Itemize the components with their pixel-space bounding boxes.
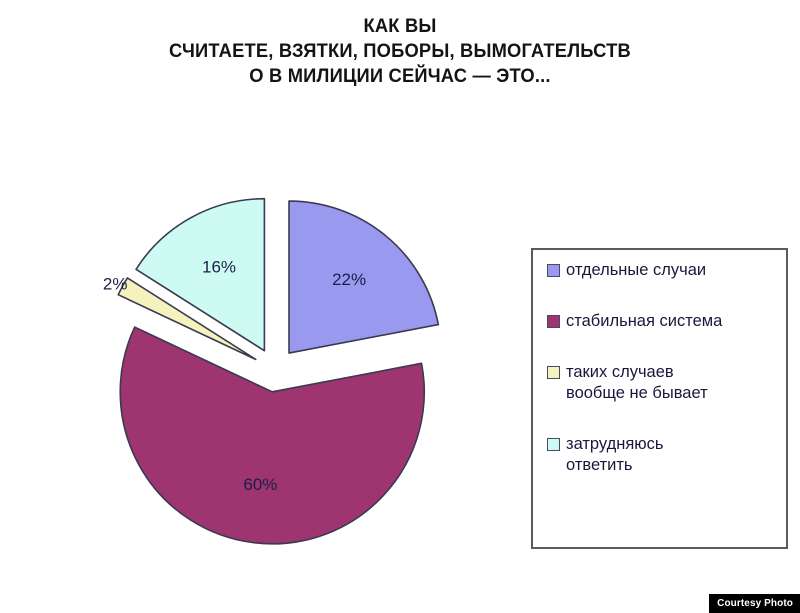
legend-swatch-icon [547,315,560,328]
legend-item-label: стабильная система [566,311,722,332]
legend-swatch-icon [547,264,560,277]
legend-item-label: затрудняюсь ответить [566,434,664,476]
pie-slice-value-label: 16% [202,258,236,277]
legend-item-label: отдельные случаи [566,260,706,281]
pie-slice-value-label: 2% [103,274,128,293]
legend-item[interactable]: затрудняюсь ответить [547,434,780,476]
pie-slice-value-label: 60% [243,475,277,494]
pie-slices [118,199,438,544]
chart-title: КАК ВЫ СЧИТАЕТЕ, ВЗЯТКИ, ПОБОРЫ, ВЫМОГАТ… [62,14,739,89]
legend-swatch-icon [547,366,560,379]
pie-slice[interactable] [120,327,424,544]
legend-item-list: отдельные случаистабильная систематаких … [547,260,780,476]
legend-item[interactable]: таких случаев вообще не бывает [547,362,780,404]
pie-slice-value-label: 22% [332,270,366,289]
legend-item-label: таких случаев вообще не бывает [566,362,708,404]
legend-item[interactable]: стабильная система [547,311,780,332]
chart-container: КАК ВЫ СЧИТАЕТЕ, ВЗЯТКИ, ПОБОРЫ, ВЫМОГАТ… [0,0,800,613]
legend-swatch-icon [547,438,560,451]
watermark-courtesy-photo: Courtesy Photo [709,594,800,613]
legend-item[interactable]: отдельные случаи [547,260,780,281]
pie-chart-graphic: 22%60%2%16% [0,150,530,570]
chart-legend: отдельные случаистабильная систематаких … [531,248,788,549]
